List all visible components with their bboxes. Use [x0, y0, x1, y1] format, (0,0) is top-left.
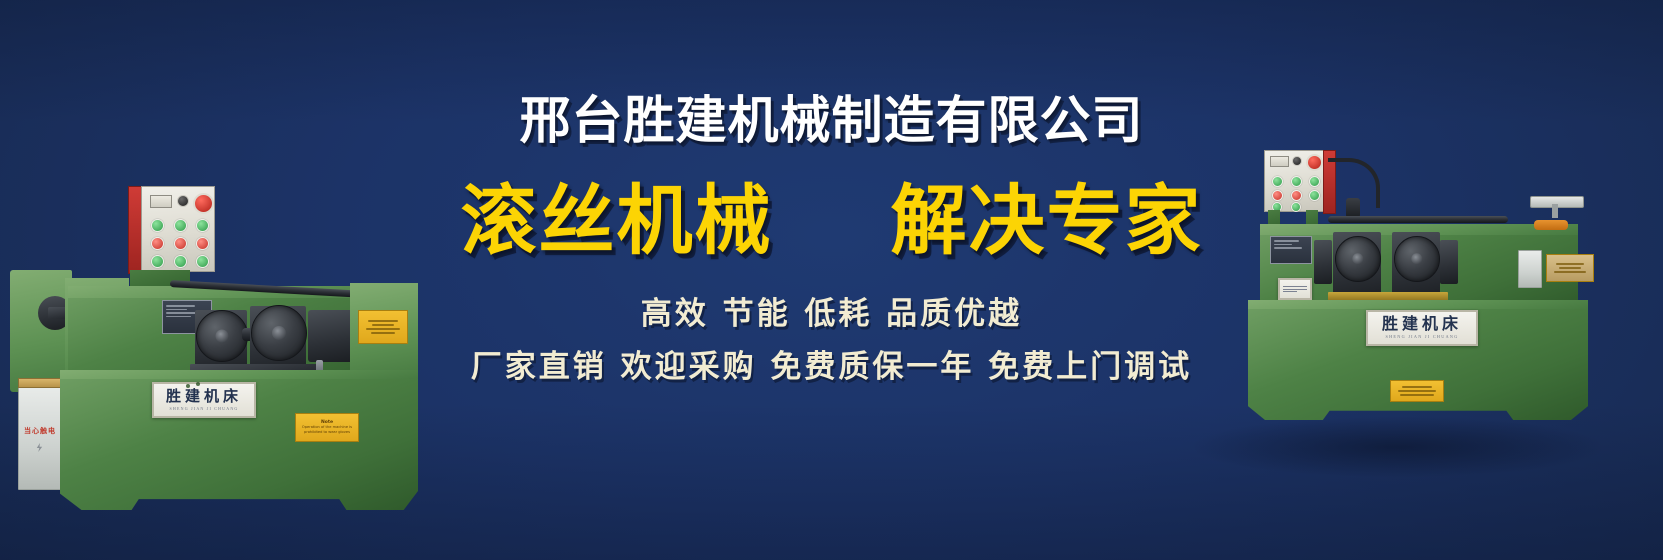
machine-left-warning-text: Operation of the machine is prohibited t… [296, 425, 358, 434]
company-name: 邢台胜建机械制造有限公司 [0, 96, 1663, 147]
headline-row: 滚丝机械 解决专家 [0, 183, 1663, 259]
machine-left-cabinet-symbol [35, 443, 44, 452]
machine-right-lower-label [1390, 380, 1444, 402]
tagline-secondary: 厂家直销 欢迎采购 免费质保一年 免费上门调试 [0, 352, 1663, 383]
machine-left-cabinet-label: 当心触电 [19, 427, 61, 435]
machine-left-brand-plate: 胜建机床 SHENG JIAN JI CHUANG [152, 382, 256, 418]
machine-left-warning-label: Note Operation of the machine is prohibi… [295, 413, 359, 442]
banner-text-block: 邢台胜建机械制造有限公司 滚丝机械 解决专家 高效 节能 低耗 品质优越 厂家直… [0, 96, 1663, 383]
product-banner: 当心触电 [0, 0, 1663, 560]
tagline-primary: 高效 节能 低耗 品质优越 [0, 299, 1663, 330]
machine-left-brand-pinyin: SHENG JIAN JI CHUANG [170, 407, 239, 411]
headline-left: 滚丝机械 [461, 183, 773, 259]
headline-right: 解决专家 [891, 183, 1203, 259]
machine-left-electric-cabinet: 当心触电 [18, 384, 62, 490]
machine-left-brand-cn: 胜建机床 [166, 389, 242, 404]
machine-right-shadow [1188, 416, 1608, 478]
